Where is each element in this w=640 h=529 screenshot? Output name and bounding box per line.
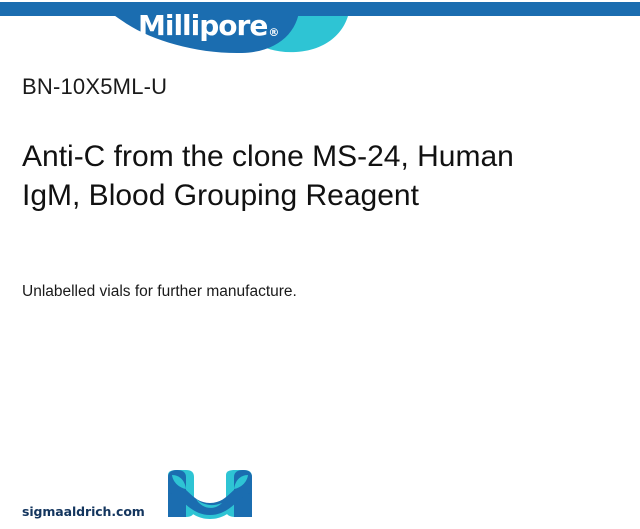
merck-m-logo — [160, 469, 260, 521]
product-info-section: BN-10X5ML-U Anti-C from the clone MS-24,… — [22, 74, 612, 303]
product-code: BN-10X5ML-U — [22, 74, 612, 100]
header-blue-band-right — [296, 2, 640, 16]
sigmaaldrich-website-link[interactable]: sigmaaldrich.com — [22, 504, 145, 519]
registered-trademark-icon: ® — [268, 26, 279, 39]
product-description: Unlabelled vials for further manufacture… — [22, 281, 582, 303]
page-footer: sigmaaldrich.com — [0, 453, 640, 529]
page-title: Anti-C from the clone MS-24, Human IgM, … — [22, 138, 542, 215]
header-swoosh-graphic — [0, 0, 640, 62]
millipore-logo: Millipore® — [138, 12, 278, 40]
millipore-wordmark-text: Millipore — [138, 9, 267, 42]
brand-header: Millipore® — [0, 0, 640, 62]
